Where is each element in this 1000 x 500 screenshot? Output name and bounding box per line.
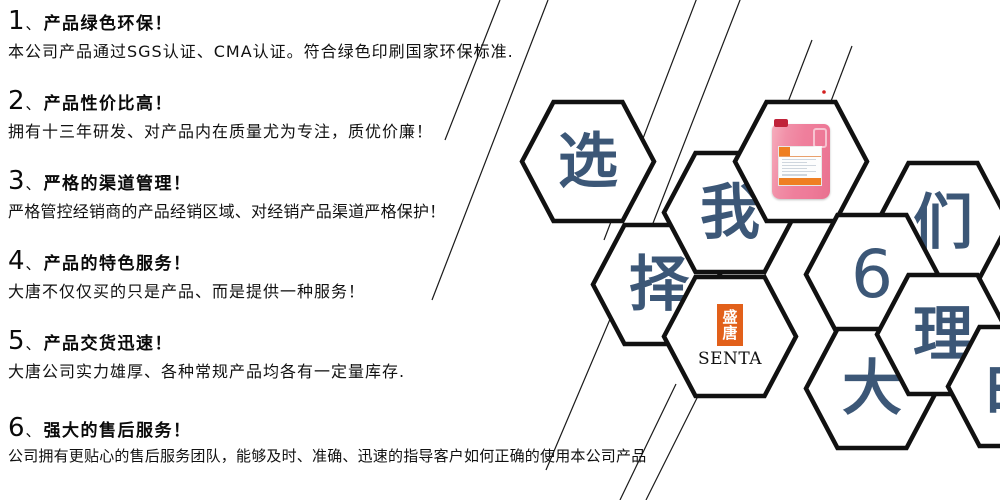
benefits-list: 1 、 产品绿色环保！ 本公司产品通过SGS认证、CMA认证。符合绿色印刷国家环… (0, 0, 640, 500)
benefit-1-heading: 1 、 产品绿色环保！ (8, 8, 514, 34)
benefit-item-1: 1 、 产品绿色环保！ 本公司产品通过SGS认证、CMA认证。符合绿色印刷国家环… (8, 8, 514, 62)
benefit-item-3: 3 、 严格的渠道管理！ 严格管控经销商的产品经销区域、对经销产品渠道严格保护！ (8, 168, 445, 222)
benefit-4-separator: 、 (26, 253, 41, 274)
hex-cell-product-photo[interactable] (732, 99, 870, 224)
benefit-2-heading: 2 、 产品性价比高！ (8, 88, 433, 114)
benefit-3-number: 3 (8, 168, 25, 194)
benefit-6-title: 强大的售后服务！ (44, 416, 192, 441)
benefit-5-body: 大唐公司实力雄厚、各种常规产品均各有一定量库存. (8, 358, 405, 382)
hex-cell-you[interactable]: 由 (945, 324, 1000, 449)
benefit-item-5: 5 、 产品交货迅速！ 大唐公司实力雄厚、各种常规产品均各有一定量库存. (8, 328, 405, 382)
benefit-3-body: 严格管控经销商的产品经销区域、对经销产品渠道严格保护！ (8, 198, 445, 222)
benefit-5-heading: 5 、 产品交货迅速！ (8, 328, 405, 354)
benefit-5-separator: 、 (26, 333, 41, 354)
hex-cell-logo[interactable]: 盛 唐 SENTA (661, 274, 799, 399)
benefit-3-title: 严格的渠道管理！ (44, 169, 192, 194)
benefit-3-heading: 3 、 严格的渠道管理！ (8, 168, 445, 194)
benefit-item-4: 4 、 产品的特色服务！ 大唐不仅仅买的只是产品、而是提供一种服务！ (8, 248, 365, 302)
benefit-1-title: 产品绿色环保！ (44, 9, 174, 34)
benefit-2-title: 产品性价比高！ (44, 89, 174, 114)
benefit-6-heading: 6 、 强大的售后服务！ (8, 415, 646, 441)
benefit-4-title: 产品的特色服务！ (44, 249, 192, 274)
benefit-2-body: 拥有十三年研发、对产品内在质量尤为专注，质优价廉！ (8, 118, 433, 142)
benefit-1-number: 1 (8, 8, 25, 34)
benefit-4-number: 4 (8, 248, 25, 274)
benefit-4-heading: 4 、 产品的特色服务！ (8, 248, 365, 274)
benefit-3-separator: 、 (26, 173, 41, 194)
promo-banner: 选 择 我 (0, 0, 1000, 500)
benefit-2-separator: 、 (26, 93, 41, 114)
benefit-5-title: 产品交货迅速！ (44, 329, 174, 354)
benefit-4-body: 大唐不仅仅买的只是产品、而是提供一种服务！ (8, 278, 365, 302)
benefit-item-2: 2 、 产品性价比高！ 拥有十三年研发、对产品内在质量尤为专注，质优价廉！ (8, 88, 433, 142)
benefit-item-6: 6 、 强大的售后服务！ 公司拥有更贴心的售后服务团队，能够及时、准确、迅速的指… (8, 415, 646, 466)
benefit-2-number: 2 (8, 88, 25, 114)
benefit-6-number: 6 (8, 415, 25, 441)
benefit-5-number: 5 (8, 328, 25, 354)
benefit-6-separator: 、 (26, 420, 41, 441)
benefit-1-body: 本公司产品通过SGS认证、CMA认证。符合绿色印刷国家环保标准. (8, 38, 514, 62)
benefit-1-separator: 、 (26, 13, 41, 34)
benefit-6-body: 公司拥有更贴心的售后服务团队，能够及时、准确、迅速的指导客户如何正确的使用本公司… (8, 445, 646, 466)
